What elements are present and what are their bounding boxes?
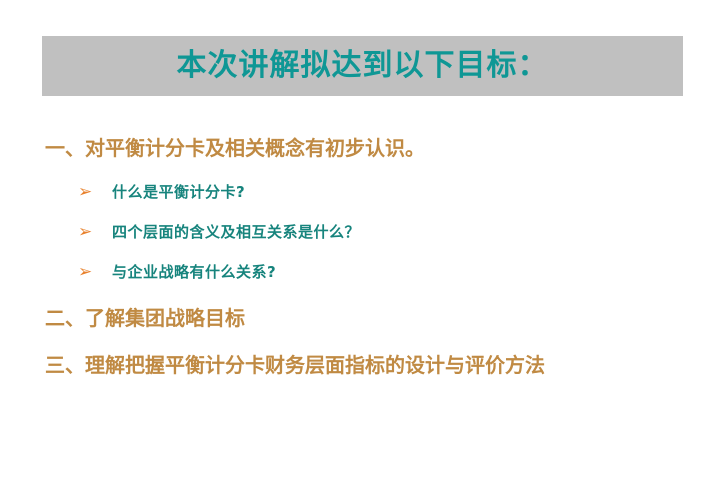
outline-item-level2-label: 与企业战略有什么关系? <box>112 265 276 280</box>
chevron-right-bullet-icon: ➢ <box>78 184 112 201</box>
outline-item-level2-label: 四个层面的含义及相互关系是什么？ <box>112 225 360 240</box>
slide-title-banner: 本次讲解拟达到以下目标： <box>42 36 683 96</box>
outline-item-level2: ➢ 什么是平衡计分卡? <box>78 184 245 201</box>
outline-item-level1: 二、了解集团战略目标 <box>45 308 245 328</box>
outline-item-level1: 一、对平衡计分卡及相关概念有初步认识。 <box>45 138 425 158</box>
outline-item-level2: ➢ 与企业战略有什么关系? <box>78 264 276 281</box>
chevron-right-bullet-icon: ➢ <box>78 224 112 241</box>
slide-title: 本次讲解拟达到以下目标： <box>177 51 549 81</box>
outline-item-level1: 三、理解把握平衡计分卡财务层面指标的设计与评价方法 <box>45 355 545 375</box>
outline-item-level2: ➢ 四个层面的含义及相互关系是什么？ <box>78 224 360 241</box>
outline-item-level2-label: 什么是平衡计分卡? <box>112 185 245 200</box>
chevron-right-bullet-icon: ➢ <box>78 264 112 281</box>
presentation-slide: 本次讲解拟达到以下目标： 一、对平衡计分卡及相关概念有初步认识。 ➢ 什么是平衡… <box>0 0 724 502</box>
